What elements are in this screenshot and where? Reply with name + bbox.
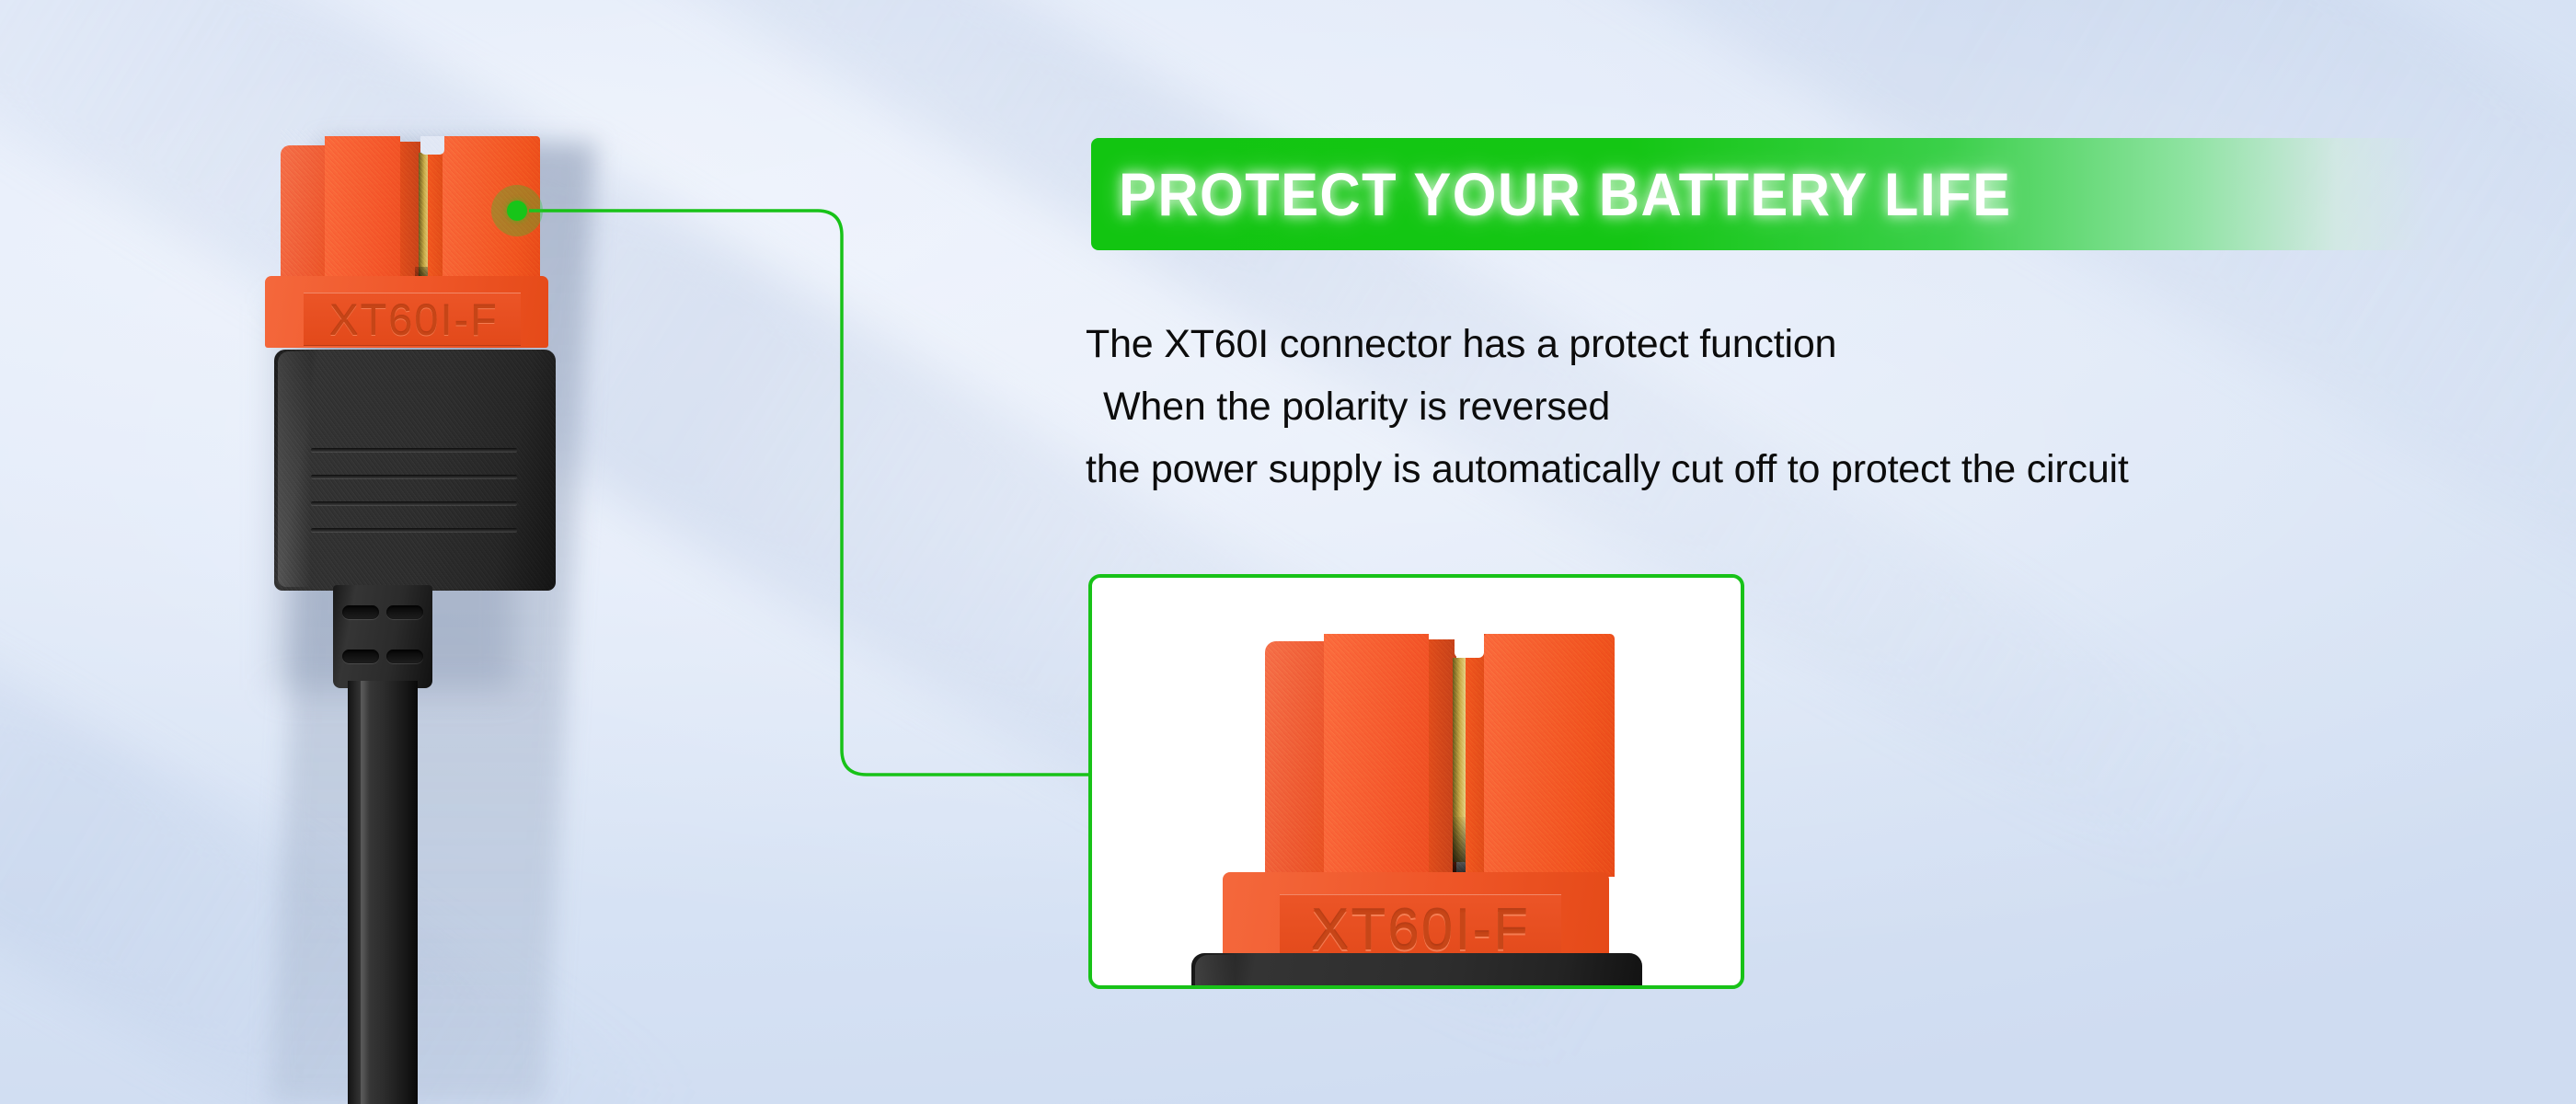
inset-housing-highlight — [1195, 955, 1236, 989]
headline-banner: PROTECT YOUR BATTERY LIFE — [1091, 138, 2431, 250]
body-line-2: When the polarity is reversed — [1086, 375, 2447, 438]
housing-grip-line — [311, 475, 517, 478]
housing-grip-line — [311, 528, 517, 532]
power-cable — [348, 681, 418, 1104]
product-photo-connector: XT60I-F — [0, 0, 699, 1104]
cable-highlight — [361, 681, 370, 1104]
inset-closeup-card: XT60I-F — [1088, 574, 1744, 989]
body-line-1: The XT60I connector has a protect functi… — [1086, 313, 2447, 375]
cable-strain-relief — [333, 585, 432, 688]
strain-relief-slot — [342, 605, 379, 619]
connector-label-text: XT60I-F — [307, 293, 521, 346]
housing-highlight — [278, 351, 311, 587]
inset-black-housing — [1191, 953, 1642, 989]
body-line-3: the power supply is automatically cut of… — [1086, 438, 2447, 500]
housing-texture-overlay — [274, 350, 556, 591]
strain-relief-slot — [386, 605, 423, 619]
body-copy: The XT60I connector has a protect functi… — [1086, 313, 2447, 500]
housing-grip-line — [311, 448, 517, 452]
callout-dot — [507, 201, 527, 221]
headline-text: PROTECT YOUR BATTERY LIFE — [1119, 164, 2011, 224]
inset-shell-texture — [1265, 628, 1615, 877]
strain-relief-slot — [342, 650, 379, 663]
strain-relief-slot — [386, 650, 423, 663]
housing-grip-line — [311, 501, 517, 505]
inset-orange-shell — [1265, 628, 1615, 877]
product-feature-banner: XT60I-F PROTECT YOUR BATTERY LIFE The XT… — [0, 0, 2576, 1104]
